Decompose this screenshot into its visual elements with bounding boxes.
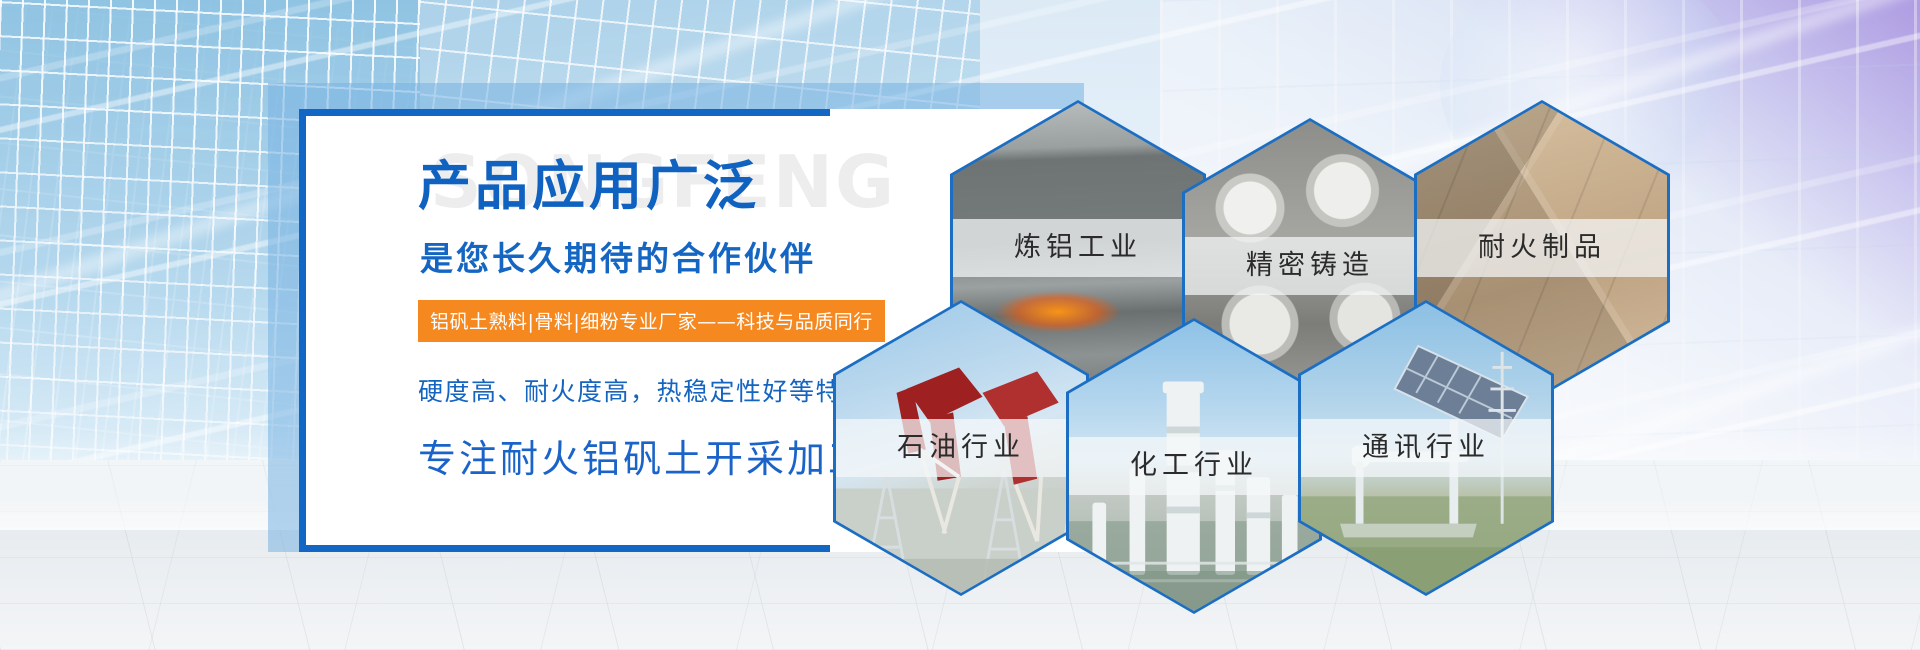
promo-banner: SONGFENG 产品应用广泛 是您长久期待的合作伙伴 铝矾土熟料|骨料|细粉专…	[0, 0, 1920, 650]
page-title: 产品应用广泛	[418, 160, 760, 213]
focus-text: 专注耐火铝矾土开采加工	[418, 428, 869, 483]
hexagon-label: 炼铝工业	[953, 219, 1203, 277]
tagline-badge: 铝矾土熟料|骨料|细粉专业厂家——科技与品质同行	[418, 300, 885, 342]
hexagon-label: 通讯行业	[1301, 419, 1551, 477]
feature-text: 硬度高、耐火度高，热稳定性好等特性	[418, 372, 869, 408]
hexagon-label: 石油行业	[836, 419, 1086, 477]
hexagon-label: 化工行业	[1069, 437, 1319, 495]
page-subtitle: 是您长久期待的合作伙伴	[420, 232, 816, 280]
hexagon-label: 耐火制品	[1417, 219, 1667, 277]
hexagon-label: 精密铸造	[1185, 237, 1435, 295]
